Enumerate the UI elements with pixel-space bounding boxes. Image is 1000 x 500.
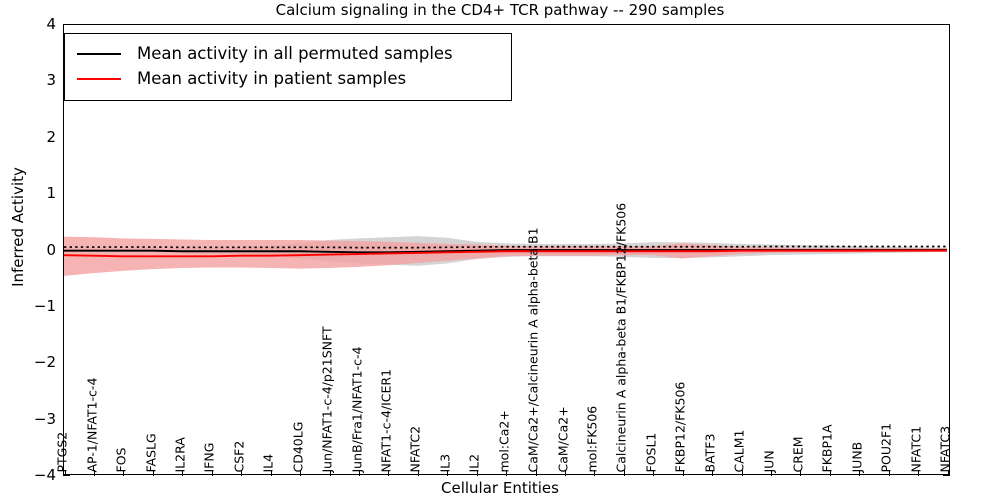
legend-item-permuted: Mean activity in all permuted samples bbox=[77, 41, 499, 66]
x-tick-mark bbox=[624, 470, 625, 476]
legend-swatch-patient bbox=[77, 78, 121, 80]
x-tick-label: IL2 bbox=[469, 453, 482, 472]
x-tick-mark bbox=[241, 470, 242, 476]
x-tick-label: CD40LG bbox=[292, 421, 305, 472]
x-tick-label: PTGS2 bbox=[57, 431, 70, 472]
x-tick-label: IL3 bbox=[439, 453, 452, 472]
chart-figure: Calcium signaling in the CD4+ TCR pathwa… bbox=[0, 0, 1000, 500]
x-tick-mark bbox=[388, 470, 389, 476]
x-tick-mark bbox=[771, 470, 772, 476]
y-tick-mark bbox=[943, 475, 950, 476]
x-tick-label: AP-1/NFAT1-c-4 bbox=[86, 377, 99, 472]
legend-item-patient: Mean activity in patient samples bbox=[77, 66, 499, 91]
y-tick-label: 4 bbox=[16, 15, 56, 33]
x-tick-label: CSF2 bbox=[233, 440, 246, 472]
x-tick-mark bbox=[123, 470, 124, 476]
x-tick-label: NFATC2 bbox=[410, 425, 423, 472]
x-tick-label: IL2RA bbox=[174, 437, 187, 472]
y-tick-label: −3 bbox=[16, 410, 56, 428]
x-tick-mark bbox=[918, 470, 919, 476]
x-tick-mark bbox=[212, 470, 213, 476]
x-tick-mark bbox=[712, 470, 713, 476]
chart-legend: Mean activity in all permuted samples Me… bbox=[64, 33, 512, 101]
x-tick-mark bbox=[830, 470, 831, 476]
y-tick-label: 0 bbox=[16, 241, 56, 259]
x-tick-label: Calcineurin A alpha-beta B1/FKBP12/FK506 bbox=[616, 202, 629, 472]
x-tick-label: JUN bbox=[763, 450, 776, 472]
x-axis-label: Cellular Entities bbox=[0, 479, 1000, 497]
legend-label-permuted: Mean activity in all permuted samples bbox=[137, 44, 453, 63]
x-tick-label: CaM/Ca2+ bbox=[557, 406, 570, 472]
x-tick-label: IFNG bbox=[204, 442, 217, 472]
x-tick-mark bbox=[182, 470, 183, 476]
x-tick-mark bbox=[65, 470, 66, 476]
x-tick-label: NFAT1-c-4/ICER1 bbox=[380, 368, 393, 472]
x-tick-mark bbox=[153, 470, 154, 476]
x-tick-label: FOSL1 bbox=[645, 432, 658, 472]
x-tick-mark bbox=[359, 470, 360, 476]
x-tick-mark bbox=[653, 470, 654, 476]
y-tick-label: −1 bbox=[16, 297, 56, 315]
x-tick-label: Jun/NFAT1-c-4/p21SNFT bbox=[322, 326, 335, 472]
chart-title: Calcium signaling in the CD4+ TCR pathwa… bbox=[0, 1, 1000, 19]
legend-swatch-permuted bbox=[77, 53, 121, 55]
x-tick-label: FKBP1A bbox=[822, 424, 835, 472]
y-tick-label: −2 bbox=[16, 353, 56, 371]
x-tick-label: CREM bbox=[793, 436, 806, 472]
x-tick-mark bbox=[948, 470, 949, 476]
y-tick-label: 3 bbox=[16, 71, 56, 89]
x-tick-label: mol:FK506 bbox=[587, 405, 600, 472]
x-tick-label: CALM1 bbox=[734, 429, 747, 472]
x-tick-label: JUNB bbox=[851, 441, 864, 472]
x-tick-label: FKBP12/FK506 bbox=[675, 381, 688, 472]
x-tick-mark bbox=[594, 470, 595, 476]
x-tick-mark bbox=[565, 470, 566, 476]
x-tick-mark bbox=[94, 470, 95, 476]
x-tick-mark bbox=[742, 470, 743, 476]
x-tick-label: NFATC3 bbox=[940, 425, 953, 472]
x-tick-mark bbox=[300, 470, 301, 476]
x-tick-mark bbox=[271, 470, 272, 476]
y-tick-label: 1 bbox=[16, 184, 56, 202]
x-tick-mark bbox=[536, 470, 537, 476]
x-tick-label: POU2F1 bbox=[881, 422, 894, 472]
x-tick-mark bbox=[859, 470, 860, 476]
x-tick-mark bbox=[418, 470, 419, 476]
x-tick-label: JunB/Fra1/NFAT1-c-4 bbox=[351, 346, 364, 472]
x-tick-label: FASLG bbox=[145, 433, 158, 472]
y-tick-label: 2 bbox=[16, 128, 56, 146]
x-tick-mark bbox=[506, 470, 507, 476]
x-tick-mark bbox=[477, 470, 478, 476]
x-tick-label: mol:Ca2+ bbox=[498, 410, 511, 472]
x-tick-label: NFATC1 bbox=[910, 425, 923, 472]
x-tick-mark bbox=[889, 470, 890, 476]
x-tick-label: BATF3 bbox=[704, 433, 717, 472]
x-tick-mark bbox=[800, 470, 801, 476]
x-tick-label: IL4 bbox=[263, 453, 276, 472]
x-tick-label: CaM/Ca2+/Calcineurin A alpha-beta B1 bbox=[528, 227, 541, 472]
x-tick-label: FOS bbox=[116, 447, 129, 472]
x-tick-mark bbox=[447, 470, 448, 476]
x-tick-mark bbox=[330, 470, 331, 476]
legend-label-patient: Mean activity in patient samples bbox=[137, 69, 406, 88]
x-tick-mark bbox=[683, 470, 684, 476]
